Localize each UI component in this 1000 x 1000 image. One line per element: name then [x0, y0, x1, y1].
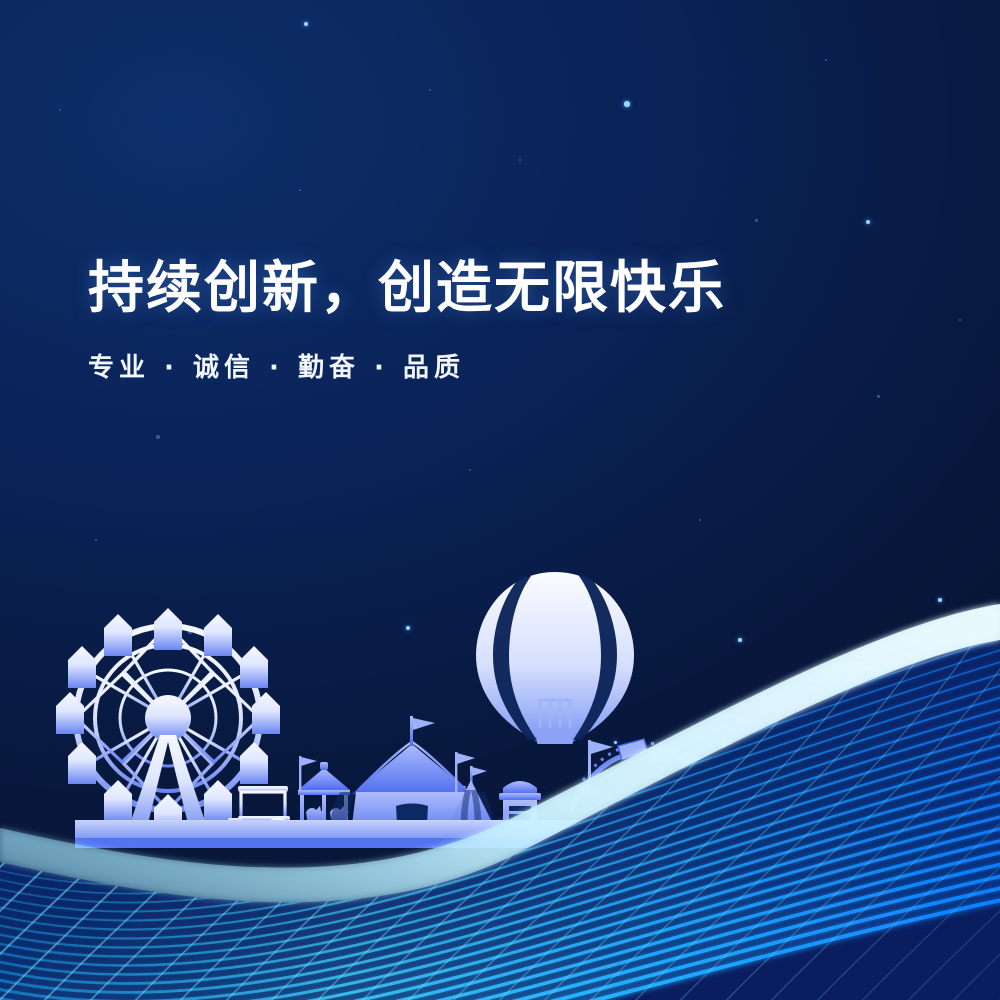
page-subtitle: 专业 · 诚信 · 勤奋 · 品质 [88, 347, 726, 384]
headline-block: 持续创新，创造无限快乐 专业 · 诚信 · 勤奋 · 品质 [88, 258, 726, 384]
page-title: 持续创新，创造无限快乐 [88, 258, 726, 321]
glowing-wave-mesh [0, 0, 1000, 1000]
banner-canvas: 持续创新，创造无限快乐 专业 · 诚信 · 勤奋 · 品质 [0, 0, 1000, 1000]
